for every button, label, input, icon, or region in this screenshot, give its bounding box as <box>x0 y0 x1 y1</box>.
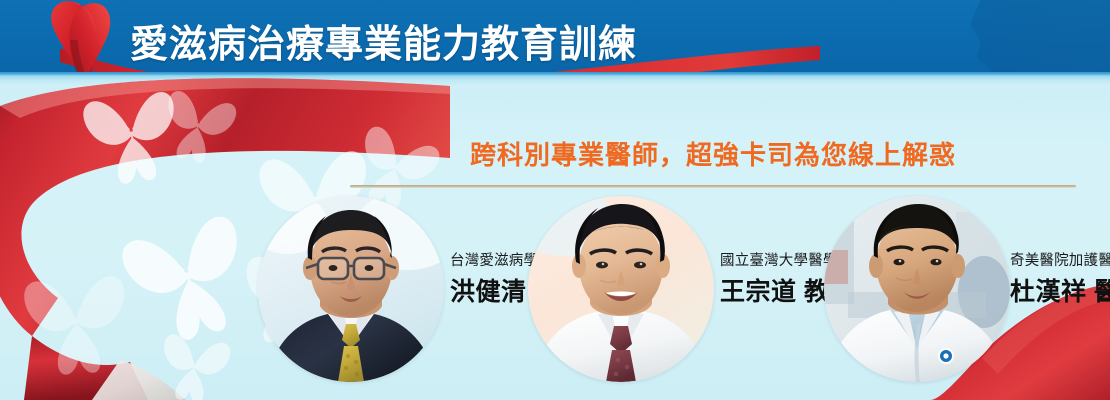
avatar <box>258 196 444 382</box>
speaker-info: 奇美醫院加護醫學部 杜漢祥 醫師 <box>1010 254 1110 308</box>
speaker-role: 醫師 <box>1094 278 1110 306</box>
aids-red-ribbon-icon <box>22 0 172 76</box>
section-divider <box>350 185 1076 188</box>
speaker-name: 杜漢祥 <box>1010 278 1087 306</box>
speaker-name-role: 杜漢祥 醫師 <box>1010 277 1110 308</box>
banner-header: 愛滋病治療專業能力教育訓練 <box>0 0 1110 76</box>
avatar <box>528 196 714 382</box>
speaker-name: 洪健清 <box>450 278 527 306</box>
avatar <box>824 196 1010 382</box>
page-title: 愛滋病治療專業能力教育訓練 <box>130 13 637 68</box>
header-bottom-accent <box>0 72 1110 76</box>
head-profile-silhouette-icon <box>860 0 1110 76</box>
speaker-name: 王宗道 <box>720 278 797 306</box>
doctor-portrait-photo <box>528 196 714 382</box>
speaker-org: 奇美醫院加護醫學部 <box>1010 254 1110 270</box>
tagline: 跨科別專業醫師，超強卡司為您線上解惑 <box>350 135 1076 172</box>
hiv-training-banner: 愛滋病治療專業能力教育訓練 跨科別專業醫師，超強卡司為您線上 <box>0 0 1110 400</box>
doctor-portrait-photo <box>258 196 444 382</box>
doctor-portrait-photo <box>824 196 1010 382</box>
